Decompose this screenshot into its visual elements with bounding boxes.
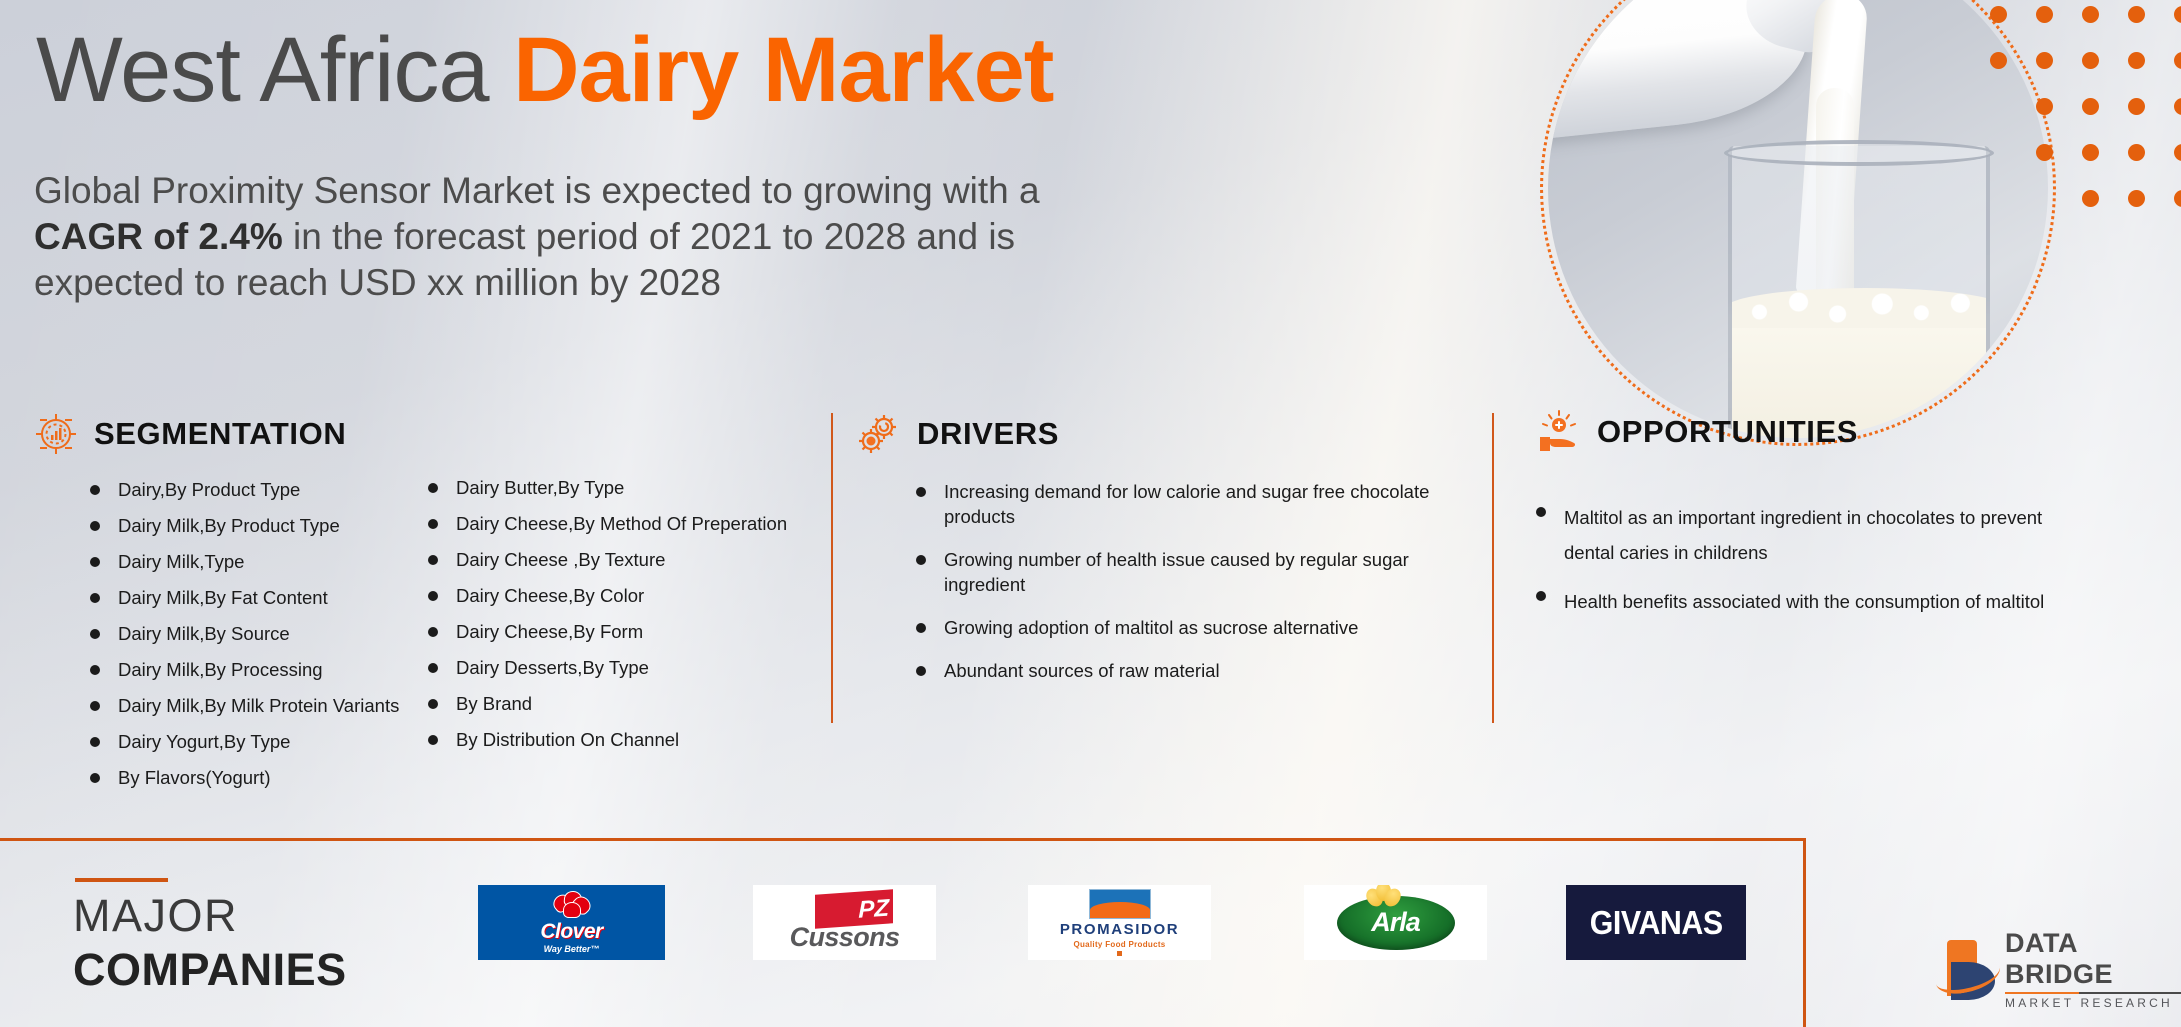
list-item: Growing number of health issue caused by… (910, 548, 1430, 598)
data-bridge-rule (2005, 992, 2181, 994)
list-item: Dairy Cheese,By Method Of Preperation (422, 512, 822, 537)
grid-dot (2036, 98, 2053, 115)
company-logo-promasidor[interactable]: PROMASIDOR Quality Food Products (1028, 885, 1211, 960)
hero-circle-mask (1548, 0, 2048, 438)
clover-tagline: Way Better™ (544, 944, 600, 954)
grid-dot (2174, 6, 2181, 23)
companies-band-right-border (1803, 838, 1806, 1027)
list-item: Dairy Milk,By Product Type (84, 514, 414, 539)
data-bridge-mark-icon (1937, 938, 1995, 1000)
glass-rim (1724, 140, 1994, 166)
list-item: Dairy Milk,By Source (84, 622, 414, 647)
segmentation-title: SEGMENTATION (94, 416, 346, 452)
promasidor-dot-icon (1117, 951, 1122, 956)
hero-image-milk-pour (1548, 0, 2181, 438)
opportunities-list: Maltitol as an important ingredient in c… (1530, 500, 2050, 633)
arla-oval-mark: Arla (1337, 896, 1455, 950)
grid-dot (2082, 98, 2099, 115)
drivers-title: DRIVERS (917, 416, 1059, 452)
arla-flower-icon (1367, 885, 1401, 908)
page-title: West Africa Dairy Market (36, 24, 1053, 118)
grid-dot (2174, 98, 2181, 115)
grid-dot (2036, 52, 2053, 69)
section-divider-1 (831, 413, 833, 723)
grid-dot (2082, 144, 2099, 161)
grid-dot (2128, 98, 2145, 115)
page-title-region: West Africa (36, 19, 513, 121)
segmentation-list-column-2: Dairy Butter,By TypeDairy Cheese,By Meth… (422, 476, 822, 764)
section-divider-2 (1492, 413, 1494, 723)
page-subtitle: Global Proximity Sensor Market is expect… (34, 168, 1094, 306)
grid-dot (2082, 6, 2099, 23)
list-item: Abundant sources of raw material (910, 659, 1430, 684)
promasidor-wordmark: PROMASIDOR (1060, 921, 1179, 938)
list-item: Dairy,By Product Type (84, 478, 414, 503)
list-item: Health benefits associated with the cons… (1530, 584, 2050, 619)
grid-dot (1990, 6, 2007, 23)
grid-dot (1990, 52, 2007, 69)
arla-wordmark: Arla (1371, 907, 1420, 938)
clover-leaf-icon (553, 891, 591, 919)
major-label-line2: COMPANIES (73, 944, 347, 996)
pz-red-block: PZ (815, 889, 893, 928)
list-item: Dairy Milk,Type (84, 550, 414, 575)
major-label-line1: MAJOR (73, 890, 238, 942)
grid-dot (2128, 52, 2145, 69)
infographic-page: West Africa Dairy Market Global Proximit… (0, 0, 2181, 1027)
data-bridge-title: DATA BRIDGE (2005, 928, 2181, 990)
list-item: Dairy Desserts,By Type (422, 656, 822, 681)
list-item: Dairy Milk,By Fat Content (84, 586, 414, 611)
data-bridge-subtitle: MARKET RESEARCH (2005, 996, 2181, 1010)
list-item: Growing adoption of maltitol as sucrose … (910, 616, 1430, 641)
page-title-accent: Dairy Market (513, 19, 1053, 121)
promasidor-tagline: Quality Food Products (1073, 940, 1165, 949)
grid-dot (2082, 190, 2099, 207)
gears-icon (855, 410, 903, 458)
list-item: Dairy Cheese ,By Texture (422, 548, 822, 573)
list-item: Dairy Milk,By Processing (84, 658, 414, 683)
opportunities-header: OPPORTUNITIES (1535, 408, 1858, 456)
list-item: Dairy Yogurt,By Type (84, 730, 414, 755)
company-logo-arla[interactable]: Arla (1304, 885, 1487, 960)
list-item: Dairy Butter,By Type (422, 476, 822, 501)
grid-dot (2174, 144, 2181, 161)
grid-dot (2174, 52, 2181, 69)
company-logo-pz-cussons[interactable]: PZ Cussons (753, 885, 936, 960)
grid-dot (2036, 6, 2053, 23)
promasidor-mark-icon (1089, 889, 1151, 919)
major-companies-accent-rule (75, 878, 168, 882)
grid-dot (2128, 6, 2145, 23)
milk-foam (1728, 288, 1990, 328)
pz-wordmark: PZ (858, 894, 893, 925)
companies-band-top-border (0, 838, 1806, 841)
company-logo-givanas[interactable]: GIVANAS (1566, 885, 1746, 960)
grid-dot (2036, 144, 2053, 161)
givanas-wordmark: GIVANAS (1590, 904, 1723, 942)
subtitle-part-1: Global Proximity Sensor Market is expect… (34, 170, 1040, 211)
orange-dot-grid-pattern (1990, 6, 2181, 216)
milk-glass (1728, 146, 1990, 438)
clover-wordmark: Clover (540, 920, 602, 944)
grid-dot (2128, 144, 2145, 161)
list-item: Maltitol as an important ingredient in c… (1530, 500, 2050, 570)
list-item: By Flavors(Yogurt) (84, 766, 414, 791)
segmentation-header: SEGMENTATION (32, 410, 346, 458)
grid-dot (2174, 190, 2181, 207)
hand-sun-icon (1535, 408, 1583, 456)
list-item: Dairy Cheese,By Form (422, 620, 822, 645)
list-item: Increasing demand for low calorie and su… (910, 480, 1430, 530)
grid-dot (2082, 52, 2099, 69)
list-item: By Brand (422, 692, 822, 717)
analytics-chart-icon (32, 410, 80, 458)
data-bridge-logo[interactable]: DATA BRIDGE MARKET RESEARCH (1937, 928, 2181, 1010)
grid-dot (2128, 190, 2145, 207)
opportunities-title: OPPORTUNITIES (1597, 414, 1858, 450)
drivers-header: DRIVERS (855, 410, 1059, 458)
segmentation-list-column-1: Dairy,By Product TypeDairy Milk,By Produ… (84, 478, 414, 802)
list-item: Dairy Milk,By Milk Protein Variants (84, 694, 414, 719)
list-item: Dairy Cheese,By Color (422, 584, 822, 609)
subtitle-cagr: CAGR of 2.4% (34, 216, 283, 257)
company-logo-clover[interactable]: Clover Way Better™ (478, 885, 665, 960)
list-item: By Distribution On Channel (422, 728, 822, 753)
drivers-list: Increasing demand for low calorie and su… (910, 480, 1430, 702)
